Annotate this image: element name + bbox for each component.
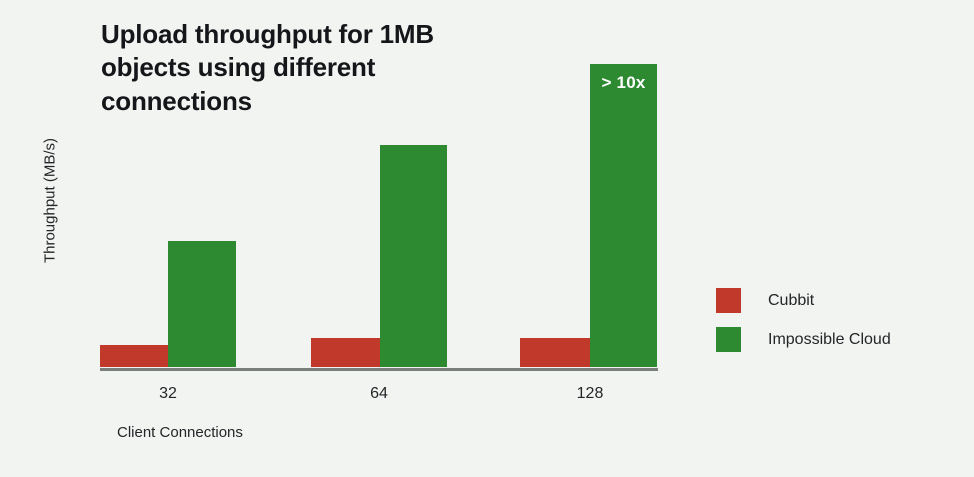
legend-swatch-impossible-cloud (716, 327, 741, 352)
x-tick-label-2: 128 (530, 385, 650, 403)
legend-swatch-cubbit (716, 288, 741, 313)
x-axis-line (100, 368, 658, 371)
x-axis-title: Client Connections (117, 424, 243, 441)
bar-impossible-cloud-128: > 10x (590, 64, 657, 367)
bar-cubbit-64 (311, 338, 380, 367)
legend: Cubbit Impossible Cloud (716, 281, 891, 359)
legend-label-impossible-cloud: Impossible Cloud (768, 331, 891, 349)
x-tick-label-0: 32 (108, 385, 228, 403)
y-axis-title: Throughput (MB/s) (42, 91, 59, 311)
bar-cubbit-128 (520, 338, 590, 367)
legend-item-impossible-cloud: Impossible Cloud (716, 320, 891, 359)
bar-annotation-10x: > 10x (590, 73, 657, 93)
legend-item-cubbit: Cubbit (716, 281, 891, 320)
bar-impossible-cloud-64 (380, 145, 447, 367)
bar-cubbit-32 (100, 345, 168, 367)
legend-label-cubbit: Cubbit (768, 292, 814, 310)
plot-area: > 10x (100, 20, 658, 367)
bar-impossible-cloud-32 (168, 241, 236, 367)
x-tick-label-1: 64 (319, 385, 439, 403)
chart-figure: Upload throughput for 1MB objects using … (0, 0, 974, 477)
